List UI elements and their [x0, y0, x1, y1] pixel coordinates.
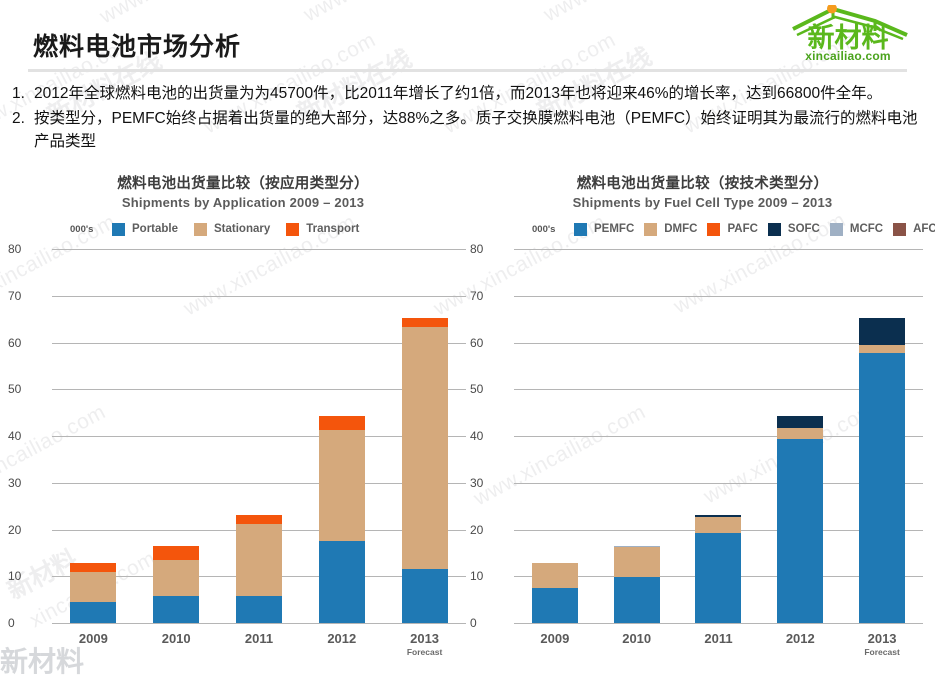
legend-items: PEMFCDMFCPAFCSOFCMCFCAFC — [574, 223, 935, 236]
chart-title-en: Shipments by Application 2009 – 2013 — [8, 195, 478, 210]
logo-domain-label: xincailiao.com — [783, 49, 913, 63]
legend-item-portable[interactable]: Portable — [112, 223, 178, 236]
x-axis-year: 2011 — [236, 631, 282, 646]
plot-area — [52, 250, 466, 624]
bar-segment-stationary[interactable] — [319, 430, 365, 541]
y-axis-tick: 0 — [470, 616, 510, 630]
legend-label: Stationary — [214, 223, 270, 235]
list-item-number: 1. — [6, 82, 34, 105]
x-axis-year: 2012 — [777, 631, 823, 646]
x-axis-line — [52, 623, 466, 624]
bar-segment-dmfc[interactable] — [532, 563, 578, 588]
bar-segment-transport[interactable] — [402, 318, 448, 327]
legend-item-mcfc[interactable]: MCFC — [830, 223, 883, 236]
body-bullet-list: 1. 2012年全球燃料电池的出货量为为45700件，比2011年增长了约1倍，… — [6, 82, 931, 155]
y-axis-tick: 60 — [470, 336, 510, 350]
x-axis-year: 2013 — [859, 631, 905, 646]
chart-legend: 000's PEMFCDMFCPAFCSOFCMCFCAFC — [470, 222, 935, 236]
bar-segment-portable[interactable] — [319, 541, 365, 624]
legend-label: MCFC — [850, 223, 883, 235]
x-axis-forecast-note: Forecast — [402, 647, 448, 657]
x-axis-label-2012: 2012 — [777, 631, 823, 646]
bar-stack-2010[interactable] — [614, 250, 660, 624]
bar-segment-stationary[interactable] — [236, 524, 282, 596]
y-axis-tick: 40 — [470, 429, 510, 443]
y-axis-tick: 60 — [8, 336, 48, 350]
y-axis-tick: 70 — [8, 289, 48, 303]
list-item: 2. 按类型分，PEMFC始终占据着出货量的绝大部分，达88%之多。质子交换膜燃… — [6, 107, 931, 153]
list-item: 1. 2012年全球燃料电池的出货量为为45700件，比2011年增长了约1倍，… — [6, 82, 931, 105]
bar-stack-2009[interactable] — [532, 250, 578, 624]
bar-segment-transport[interactable] — [70, 563, 116, 572]
bar-stack-2010[interactable] — [153, 250, 199, 624]
svg-text:新材料: 新材料 — [808, 22, 889, 51]
legend-swatch-icon — [194, 223, 207, 236]
legend-item-sofc[interactable]: SOFC — [768, 223, 820, 236]
x-axis-label-2010: 2010 — [153, 631, 199, 646]
y-axis-tick: 0 — [8, 616, 48, 630]
x-axis-label-2010: 2010 — [614, 631, 660, 646]
slide-header: 燃料电池市场分析 新材料 xincailiao.com — [0, 0, 935, 76]
legend-label: SOFC — [788, 223, 820, 235]
list-item-text: 2012年全球燃料电池的出货量为为45700件，比2011年增长了约1倍，而20… — [34, 82, 882, 105]
legend-item-pemfc[interactable]: PEMFC — [574, 223, 634, 236]
slide-root: www.xincailiao.com www.xincailiao.com ww… — [0, 0, 935, 679]
y-axis-tick: 30 — [470, 476, 510, 490]
legend-items: PortableStationaryTransport — [112, 223, 375, 236]
chart-legend: 000's PortableStationaryTransport — [8, 222, 478, 236]
y-axis-tick: 20 — [470, 523, 510, 537]
x-axis-labels: 20092010201120122013Forecast — [52, 626, 466, 660]
y-axis-tick: 50 — [8, 382, 48, 396]
x-axis-line — [514, 623, 923, 624]
legend-label: PAFC — [727, 223, 757, 235]
plot-area — [514, 250, 923, 624]
legend-label: PEMFC — [594, 223, 634, 235]
bar-group — [52, 250, 466, 624]
legend-label: AFC — [913, 223, 935, 235]
plot-wrapper: 01020304050607080 20092010201120122013Fo… — [8, 250, 478, 660]
bar-segment-portable[interactable] — [402, 569, 448, 624]
legend-label: Portable — [132, 223, 178, 235]
x-axis-year: 2009 — [70, 631, 116, 646]
bar-segment-transport[interactable] — [236, 515, 282, 524]
legend-swatch-icon — [112, 223, 125, 236]
legend-swatch-icon — [286, 223, 299, 236]
x-axis-labels: 20092010201120122013Forecast — [514, 626, 923, 660]
bar-stack-2009[interactable] — [70, 250, 116, 624]
bar-stack-2012[interactable] — [777, 250, 823, 624]
legend-item-afc[interactable]: AFC — [893, 223, 935, 236]
bar-segment-sofc[interactable] — [777, 416, 823, 428]
bar-segment-stationary[interactable] — [70, 572, 116, 601]
list-item-number: 2. — [6, 107, 34, 153]
title-divider — [28, 69, 907, 72]
y-axis-tick: 40 — [8, 429, 48, 443]
legend-swatch-icon — [644, 223, 657, 236]
bar-segment-pemfc[interactable] — [859, 353, 905, 624]
list-item-text: 按类型分，PEMFC始终占据着出货量的绝大部分，达88%之多。质子交换膜燃料电池… — [34, 107, 931, 153]
legend-label: DMFC — [664, 223, 697, 235]
legend-swatch-icon — [574, 223, 587, 236]
x-axis-year: 2010 — [153, 631, 199, 646]
legend-item-transport[interactable]: Transport — [286, 223, 359, 236]
x-axis-label-2009: 2009 — [532, 631, 578, 646]
bar-segment-portable[interactable] — [70, 602, 116, 624]
x-axis-label-2011: 2011 — [236, 631, 282, 646]
bar-segment-pemfc[interactable] — [614, 577, 660, 624]
legend-swatch-icon — [707, 223, 720, 236]
bar-segment-stationary[interactable] — [402, 327, 448, 569]
bar-segment-pemfc[interactable] — [777, 439, 823, 624]
site-logo[interactable]: 新材料 xincailiao.com — [783, 5, 913, 67]
x-axis-label-2012: 2012 — [319, 631, 365, 646]
y-axis-tick: 30 — [8, 476, 48, 490]
y-axis-tick: 20 — [8, 523, 48, 537]
bar-segment-pemfc[interactable] — [532, 588, 578, 624]
logo-icon: 新材料 — [783, 5, 913, 51]
y-axis-tick: 50 — [470, 382, 510, 396]
chart-shipments-by-fuel-cell-type: 燃料电池出货量比较（按技术类型分） Shipments by Fuel Cell… — [470, 172, 935, 677]
bar-segment-dmfc[interactable] — [777, 428, 823, 439]
legend-swatch-icon — [768, 223, 781, 236]
bar-segment-dmfc[interactable] — [614, 547, 660, 576]
bar-stack-2013[interactable] — [402, 250, 448, 624]
page-title: 燃料电池市场分析 — [33, 27, 241, 63]
chart-units-label: 000's — [532, 224, 574, 235]
chart-units-label: 000's — [70, 224, 112, 235]
y-axis-tick: 10 — [8, 569, 48, 583]
x-axis-year: 2012 — [319, 631, 365, 646]
plot-wrapper: 01020304050607080 20092010201120122013Fo… — [470, 250, 935, 660]
x-axis-label-2013: 2013Forecast — [859, 631, 905, 657]
legend-swatch-icon — [830, 223, 843, 236]
bar-segment-portable[interactable] — [153, 596, 199, 624]
x-axis-label-2011: 2011 — [695, 631, 741, 646]
bar-segment-transport[interactable] — [319, 416, 365, 430]
bar-group — [514, 250, 923, 624]
y-axis-tick: 70 — [470, 289, 510, 303]
y-axis-tick: 80 — [8, 242, 48, 256]
bar-stack-2012[interactable] — [319, 250, 365, 624]
bar-segment-transport[interactable] — [153, 546, 199, 559]
y-axis-tick: 10 — [470, 569, 510, 583]
x-axis-forecast-note: Forecast — [859, 647, 905, 657]
bar-segment-stationary[interactable] — [153, 560, 199, 596]
bar-stack-2011[interactable] — [695, 250, 741, 624]
bar-segment-sofc[interactable] — [859, 318, 905, 345]
chart-title-cn: 燃料电池出货量比较（按技术类型分） — [470, 172, 935, 193]
x-axis-label-2009: 2009 — [70, 631, 116, 646]
x-axis-year: 2013 — [402, 631, 448, 646]
bar-segment-dmfc[interactable] — [859, 345, 905, 353]
bar-segment-pemfc[interactable] — [695, 533, 741, 624]
x-axis-year: 2011 — [695, 631, 741, 646]
x-axis-year: 2010 — [614, 631, 660, 646]
bar-segment-dmfc[interactable] — [695, 517, 741, 532]
legend-label: Transport — [306, 223, 359, 235]
chart-shipments-by-application: 燃料电池出货量比较（按应用类型分） Shipments by Applicati… — [8, 172, 478, 677]
legend-item-pafc[interactable]: PAFC — [707, 223, 757, 236]
legend-swatch-icon — [893, 223, 906, 236]
bar-stack-2011[interactable] — [236, 250, 282, 624]
bar-stack-2013[interactable] — [859, 250, 905, 624]
x-axis-label-2013: 2013Forecast — [402, 631, 448, 657]
x-axis-year: 2009 — [532, 631, 578, 646]
bar-segment-portable[interactable] — [236, 596, 282, 624]
y-axis-tick: 80 — [470, 242, 510, 256]
legend-item-stationary[interactable]: Stationary — [194, 223, 270, 236]
legend-item-dmfc[interactable]: DMFC — [644, 223, 697, 236]
chart-title-en: Shipments by Fuel Cell Type 2009 – 2013 — [470, 195, 935, 210]
chart-title-cn: 燃料电池出货量比较（按应用类型分） — [8, 172, 478, 193]
